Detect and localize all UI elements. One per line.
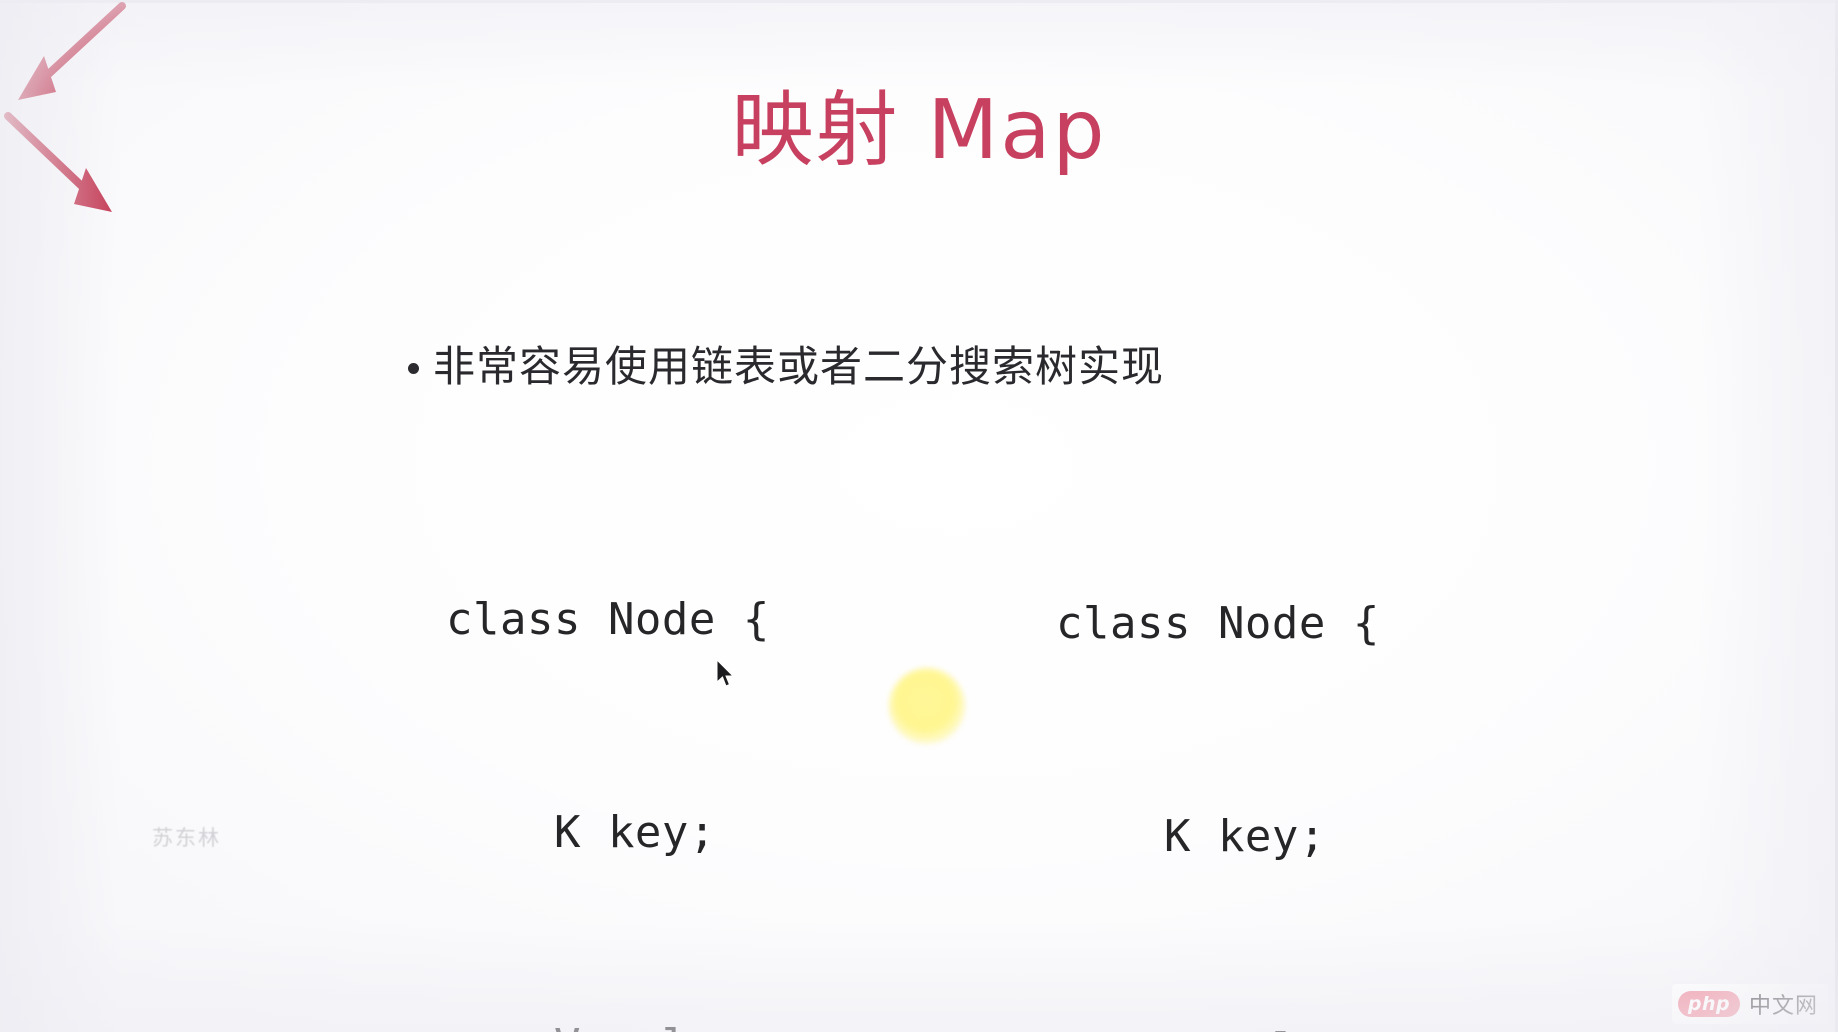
code-line: class Node { [1056,588,1434,659]
slide-canvas: 映射 Map 非常容易使用链表或者二分搜索树实现 class Node { K … [0,0,1838,1032]
code-line: V value [446,1010,851,1032]
code-block-linked-list-node: class Node { K key; V Value Node next; } [1056,446,1434,1032]
site-watermark-label: 中文网 [1749,988,1818,1020]
bullet-list-item: 非常容易使用链表或者二分搜索树实现 [408,342,1164,392]
code-block-bst-node: class Node { K key; V value Node left; N… [446,442,851,1032]
code-line: V Value [1056,1014,1434,1032]
top-edge-strip [0,0,1838,3]
code-line: K key; [1056,801,1434,872]
laser-pointer-highlight [889,668,965,744]
site-watermark: php 中文网 [1672,984,1828,1024]
page-title: 映射 Map [0,88,1838,175]
presenter-watermark: 苏东林 [152,822,221,852]
code-line: class Node { [446,584,851,655]
code-line: K key; [446,797,851,868]
mouse-cursor-icon [716,660,738,690]
php-logo-icon: php [1678,991,1740,1017]
bullet-item-label: 非常容易使用链表或者二分搜索树实现 [433,342,1164,392]
bullet-point-icon [408,363,419,374]
